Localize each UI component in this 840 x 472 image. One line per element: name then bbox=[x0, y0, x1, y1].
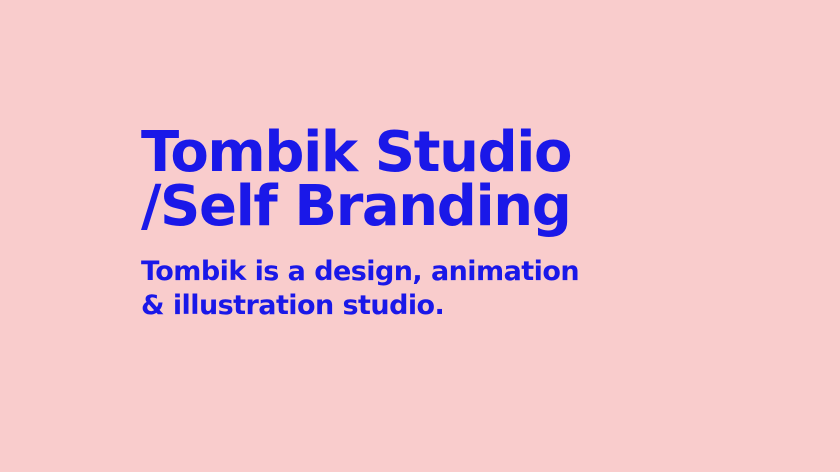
page-subtitle-line-1: Tombik is a design, animation bbox=[141, 255, 781, 289]
page-title-line-1: Tombik Studio bbox=[141, 126, 781, 180]
page-subtitle-line-2: & illustration studio. bbox=[141, 289, 781, 323]
page-title-line-2: /Self Branding bbox=[141, 180, 781, 234]
page-title: Tombik Studio /Self Branding bbox=[141, 126, 781, 234]
title-slide: Tombik Studio /Self Branding Tombik is a… bbox=[0, 0, 840, 472]
page-subtitle: Tombik is a design, animation & illustra… bbox=[141, 255, 781, 323]
text-content-block: Tombik Studio /Self Branding Tombik is a… bbox=[141, 126, 781, 323]
